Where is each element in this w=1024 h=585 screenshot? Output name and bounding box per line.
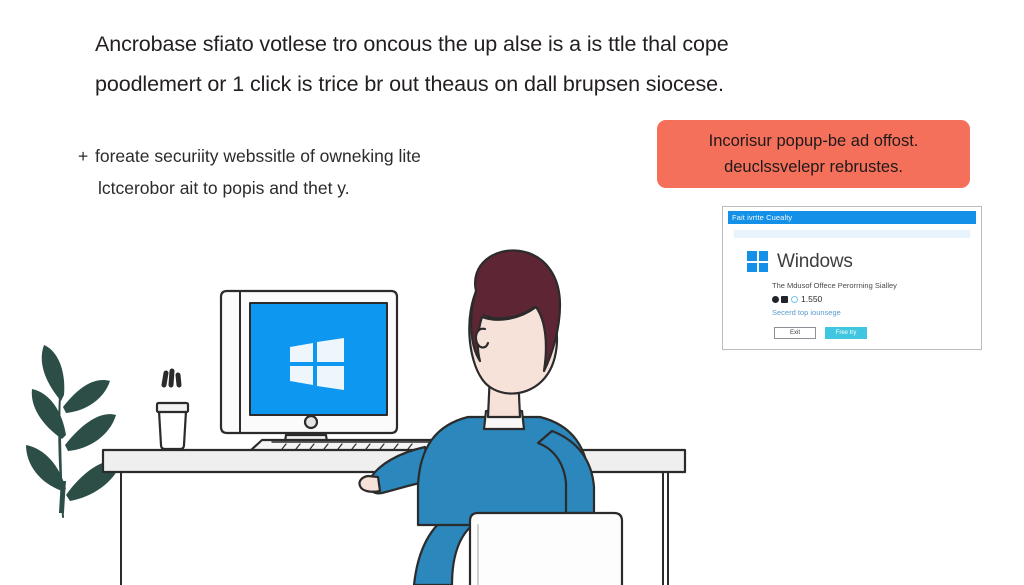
illustration-slide: Ancrobase sfiato votlese tro oncous the … xyxy=(0,0,1024,585)
office-chair xyxy=(470,513,622,585)
headline-line-1: Ancrobase sfiato votlese tro oncous the … xyxy=(95,24,785,64)
page-title: Ancrobase sfiato votlese tro oncous the … xyxy=(95,24,785,104)
plant-icon xyxy=(26,345,122,515)
bullet-line-1: foreate securiity webssitle of owneking … xyxy=(95,140,508,172)
callout-line-1: Incorisur popup-be ad offost. xyxy=(709,128,919,154)
callout-line-2: deuclssvelepr rebrustes. xyxy=(724,154,903,180)
desk-scene-illustration xyxy=(0,195,1024,585)
headline-line-2: poodlemert or 1 click is trice br out th… xyxy=(95,64,785,104)
plus-icon: + xyxy=(78,140,95,172)
pen-cup-icon xyxy=(157,371,188,449)
warning-callout: Incorisur popup-be ad offost. deuclssvel… xyxy=(657,120,970,188)
